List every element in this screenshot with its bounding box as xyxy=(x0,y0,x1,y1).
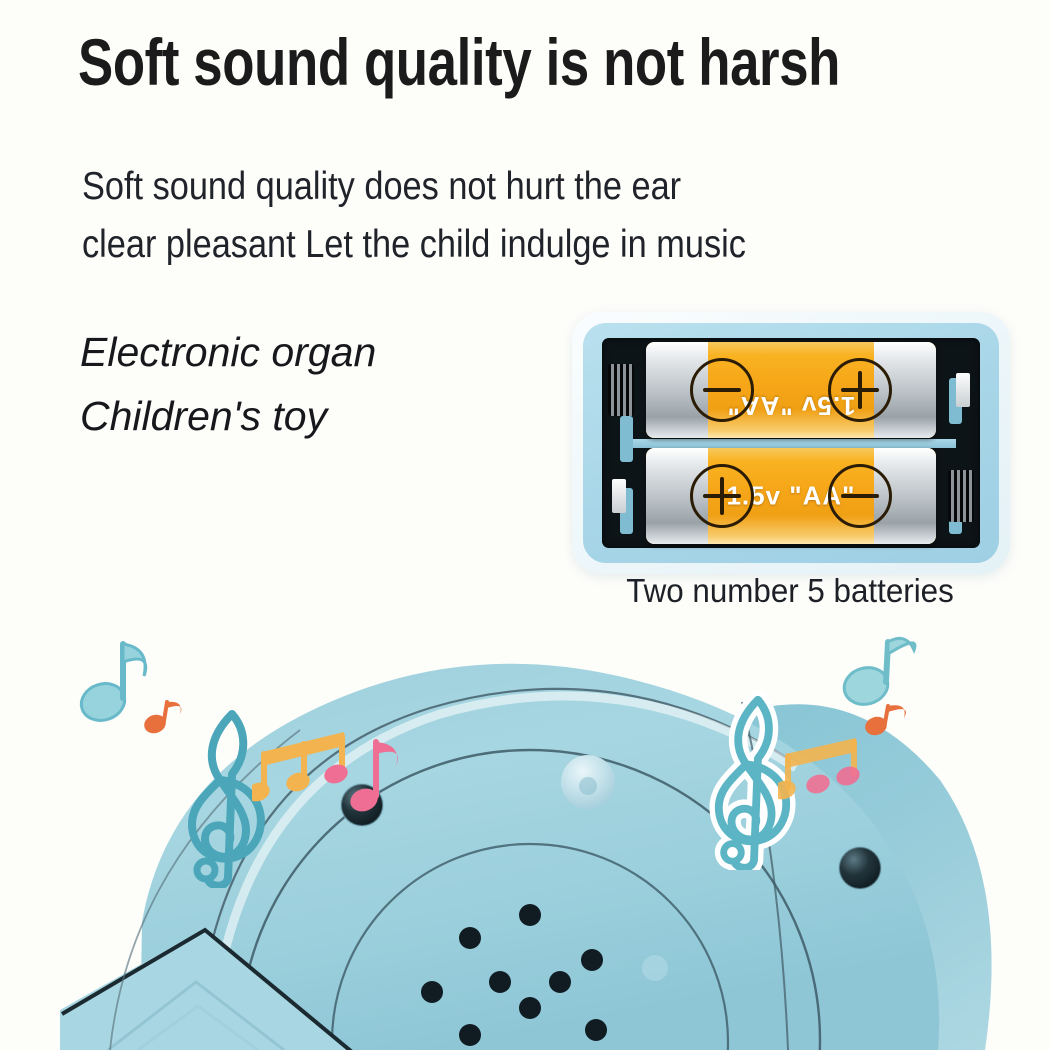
orange-note-right-icon xyxy=(862,696,914,740)
battery-compartment: 1.5v "AA" 1.5v "AA" xyxy=(572,312,1010,574)
spring-contact-icon xyxy=(948,470,974,522)
pink-note-left-icon xyxy=(348,728,408,820)
product-marketing-image: Soft sound quality is not harsh Soft sou… xyxy=(0,0,1050,1050)
page-title: Soft sound quality is not harsh xyxy=(78,24,814,100)
battery-cell-bottom: 1.5v "AA" xyxy=(602,444,980,548)
plate-contact-icon xyxy=(612,479,626,513)
battery-bottom: 1.5v "AA" xyxy=(646,448,936,544)
beamed-notes-right-icon xyxy=(778,728,888,818)
product-label-block: Electronic organ Children's toy xyxy=(80,320,550,448)
battery-top: 1.5v "AA" xyxy=(646,342,936,438)
subtitle-line-2: clear pleasant Let the child indulge in … xyxy=(82,216,874,274)
toy-illustration xyxy=(0,610,1050,1050)
minus-terminal-icon xyxy=(828,464,892,528)
plate-contact-icon xyxy=(956,373,970,407)
minus-terminal-icon xyxy=(690,358,754,422)
product-label-line-2: Children's toy xyxy=(80,384,550,448)
subtitle-line-1: Soft sound quality does not hurt the ear xyxy=(82,158,874,216)
battery-caption: Two number 5 batteries xyxy=(600,572,980,610)
plus-terminal-icon xyxy=(690,464,754,528)
subtitle-block: Soft sound quality does not hurt the ear… xyxy=(82,158,874,274)
product-label-line-1: Electronic organ xyxy=(80,320,550,384)
spring-contact-icon xyxy=(608,364,634,416)
beamed-notes-left-icon xyxy=(252,720,362,812)
small-bump xyxy=(642,955,668,981)
plus-terminal-icon xyxy=(828,358,892,422)
battery-cell-top: 1.5v "AA" xyxy=(602,338,980,442)
